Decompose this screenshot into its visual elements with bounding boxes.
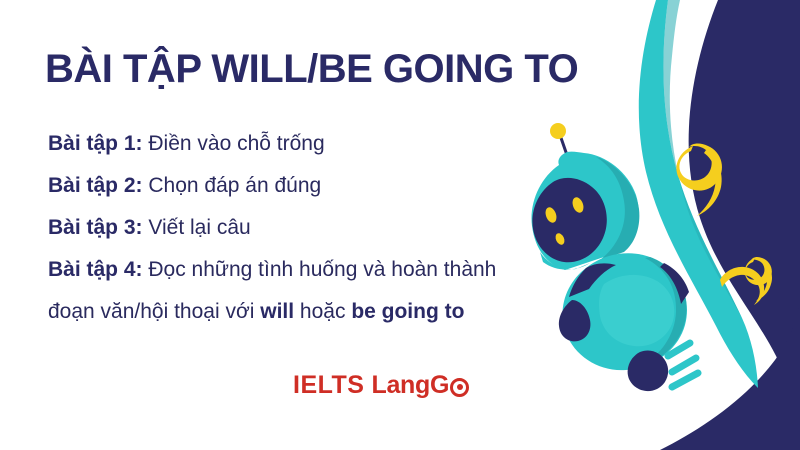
yellow-swirl-large — [676, 143, 722, 216]
slide-canvas: BÀI TẬP WILL/BE GOING TO Bài tập 1: Điền… — [0, 0, 800, 450]
navy-arm-left — [559, 300, 591, 341]
exercise-list: Bài tập 1: Điền vào chỗ trống Bài tập 2:… — [48, 123, 518, 333]
yellow-swirl-lower — [720, 266, 772, 305]
exercise-text: Chọn đáp án đúng — [143, 174, 322, 197]
target-dot — [457, 384, 463, 390]
navy-shoulder-right — [660, 263, 689, 304]
exercise-emphasis-be-going-to: be going to — [351, 300, 464, 323]
motion-line-2 — [672, 358, 696, 372]
navy-face-visor — [532, 178, 606, 262]
list-item: Bài tập 3: Viết lại câu — [48, 207, 518, 249]
exercise-label: Bài tập 4: — [48, 258, 143, 281]
antenna-ball — [550, 123, 566, 139]
exercise-text-2: hoặc — [294, 300, 351, 323]
helmet-chin-rim — [540, 252, 590, 270]
list-item: Bài tập 2: Chọn đáp án đúng — [48, 165, 518, 207]
logo-word-langgo: LangG — [371, 371, 449, 400]
eye-left — [544, 206, 559, 224]
exercise-label: Bài tập 2: — [48, 174, 143, 197]
list-item: Bài tập 1: Điền vào chỗ trống — [48, 123, 518, 165]
navy-fist — [628, 350, 669, 391]
teal-round-body — [563, 253, 687, 370]
navy-blob-right — [689, 0, 800, 450]
teal-ribbon-band-highlight — [663, 0, 742, 318]
motion-line-1 — [668, 343, 690, 356]
teal-ribbon-band — [639, 0, 758, 388]
antenna-stem — [560, 135, 568, 158]
eye-right — [571, 196, 586, 214]
mouth — [554, 232, 566, 246]
motion-line-3 — [672, 373, 698, 387]
exercise-text: Điền vào chỗ trống — [143, 132, 325, 155]
exercise-label: Bài tập 1: — [48, 132, 143, 155]
yellow-swirl-small — [745, 257, 772, 301]
body-shade — [640, 257, 687, 367]
list-item: Bài tập 4: Đọc những tình huống và hoàn … — [48, 249, 518, 333]
ielts-langgo-logo: IELTS LangG — [293, 371, 469, 400]
teal-helmet — [532, 152, 639, 270]
navy-shoulder-left — [569, 263, 616, 297]
exercise-label: Bài tập 3: — [48, 216, 143, 239]
body-highlight-panel — [599, 275, 674, 346]
navy-blob-right-lower — [660, 300, 800, 450]
page-title: BÀI TẬP WILL/BE GOING TO — [45, 48, 578, 90]
teal-helmet-shade — [596, 157, 639, 260]
robot-mascot — [532, 123, 698, 391]
logo-word-ielts: IELTS — [293, 371, 364, 400]
target-bullseye-icon — [450, 378, 469, 397]
exercise-text: Viết lại câu — [143, 216, 251, 239]
exercise-emphasis-will: will — [260, 300, 294, 323]
